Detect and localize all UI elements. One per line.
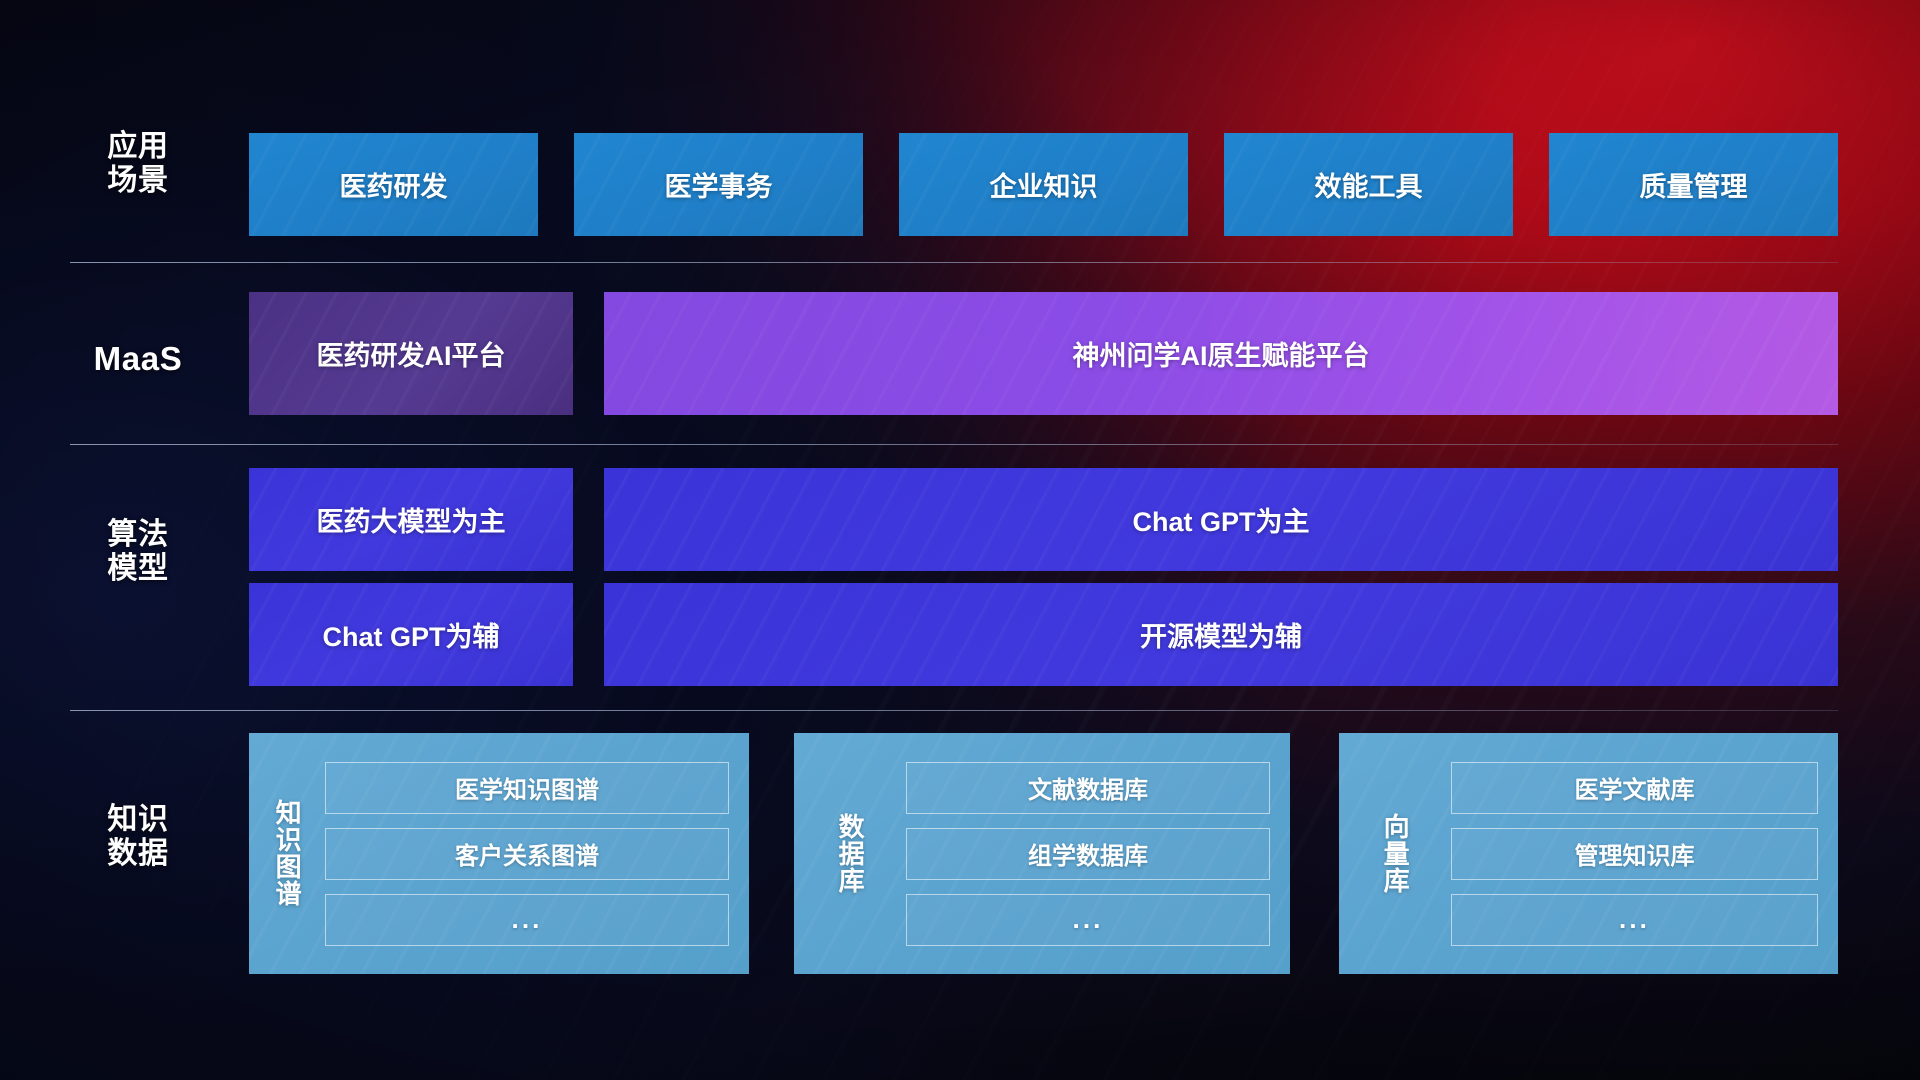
algo-box-chatgpt-primary-label: Chat GPT为主 — [1132, 500, 1309, 539]
algo-box-pharma-primary[interactable]: 医药大模型为主 — [249, 468, 573, 571]
app-box-2[interactable]: 医学事务 — [574, 133, 863, 236]
maas-box-native-platform-label: 神州问学AI原生赋能平台 — [1073, 334, 1370, 373]
algo-box-chatgpt-secondary-label: Chat GPT为辅 — [322, 615, 499, 654]
knowledge-item[interactable]: 医学文献库 — [1451, 762, 1818, 814]
maas-box-native-platform[interactable]: 神州问学AI原生赋能平台 — [604, 292, 1838, 415]
knowledge-item-more[interactable]: ... — [325, 894, 729, 946]
algo-box-chatgpt-secondary[interactable]: Chat GPT为辅 — [249, 583, 573, 686]
row-label-maas: MaaS — [72, 341, 204, 378]
knowledge-panel-vector-label: 向量库 — [1339, 733, 1451, 974]
knowledge-panel-vector[interactable]: 向量库 医学文献库 管理知识库 ... — [1339, 733, 1838, 974]
knowledge-item[interactable]: 文献数据库 — [906, 762, 1270, 814]
app-box-1[interactable]: 医药研发 — [249, 133, 538, 236]
divider-after-application-scenarios — [70, 262, 1838, 263]
divider-after-maas — [70, 444, 1838, 445]
knowledge-panel-vector-items: 医学文献库 管理知识库 ... — [1451, 733, 1838, 974]
algo-box-opensource-secondary-label: 开源模型为辅 — [1140, 615, 1302, 654]
app-box-1-label: 医药研发 — [340, 165, 448, 204]
knowledge-item[interactable]: 组学数据库 — [906, 828, 1270, 880]
knowledge-panel-graph[interactable]: 知识图谱 医学知识图谱 客户关系图谱 ... — [249, 733, 749, 974]
row-label-application-scenarios: 应用 场景 — [78, 130, 198, 197]
app-box-5-label: 质量管理 — [1640, 165, 1748, 204]
knowledge-item-label: 医学文献库 — [1575, 770, 1695, 805]
app-box-2-label: 医学事务 — [665, 165, 773, 204]
app-box-3-label: 企业知识 — [990, 165, 1098, 204]
architecture-diagram: 应用 场景 医药研发 医学事务 企业知识 效能工具 质量管理 MaaS 医药研发… — [0, 0, 1920, 1080]
app-box-5[interactable]: 质量管理 — [1549, 133, 1838, 236]
knowledge-item-label: 管理知识库 — [1575, 836, 1695, 871]
row-label-algorithm-models: 算法 模型 — [78, 518, 198, 585]
app-box-3[interactable]: 企业知识 — [899, 133, 1188, 236]
knowledge-item-more[interactable]: ... — [906, 894, 1270, 946]
knowledge-item-label: 文献数据库 — [1028, 770, 1148, 805]
knowledge-item[interactable]: 客户关系图谱 — [325, 828, 729, 880]
divider-after-algorithm-models — [70, 710, 1838, 711]
row-label-knowledge-data: 知识 数据 — [78, 803, 198, 870]
knowledge-item-label: 医学知识图谱 — [455, 770, 599, 805]
maas-box-pharma-platform[interactable]: 医药研发AI平台 — [249, 292, 573, 415]
knowledge-item[interactable]: 医学知识图谱 — [325, 762, 729, 814]
knowledge-panel-graph-items: 医学知识图谱 客户关系图谱 ... — [325, 733, 749, 974]
knowledge-item-label: ... — [1072, 904, 1103, 935]
knowledge-item-label: 客户关系图谱 — [455, 836, 599, 871]
app-box-4[interactable]: 效能工具 — [1224, 133, 1513, 236]
knowledge-item-label: ... — [511, 904, 542, 935]
knowledge-panel-database-label: 数据库 — [794, 733, 906, 974]
knowledge-panel-database-items: 文献数据库 组学数据库 ... — [906, 733, 1290, 974]
algo-box-pharma-primary-label: 医药大模型为主 — [317, 500, 506, 539]
knowledge-item-more[interactable]: ... — [1451, 894, 1818, 946]
knowledge-panel-graph-label: 知识图谱 — [249, 733, 325, 974]
knowledge-panel-database[interactable]: 数据库 文献数据库 组学数据库 ... — [794, 733, 1290, 974]
maas-box-pharma-platform-label: 医药研发AI平台 — [317, 334, 506, 373]
knowledge-item[interactable]: 管理知识库 — [1451, 828, 1818, 880]
knowledge-item-label: ... — [1619, 904, 1650, 935]
algo-box-opensource-secondary[interactable]: 开源模型为辅 — [604, 583, 1838, 686]
knowledge-item-label: 组学数据库 — [1028, 836, 1148, 871]
algo-box-chatgpt-primary[interactable]: Chat GPT为主 — [604, 468, 1838, 571]
app-box-4-label: 效能工具 — [1315, 165, 1423, 204]
